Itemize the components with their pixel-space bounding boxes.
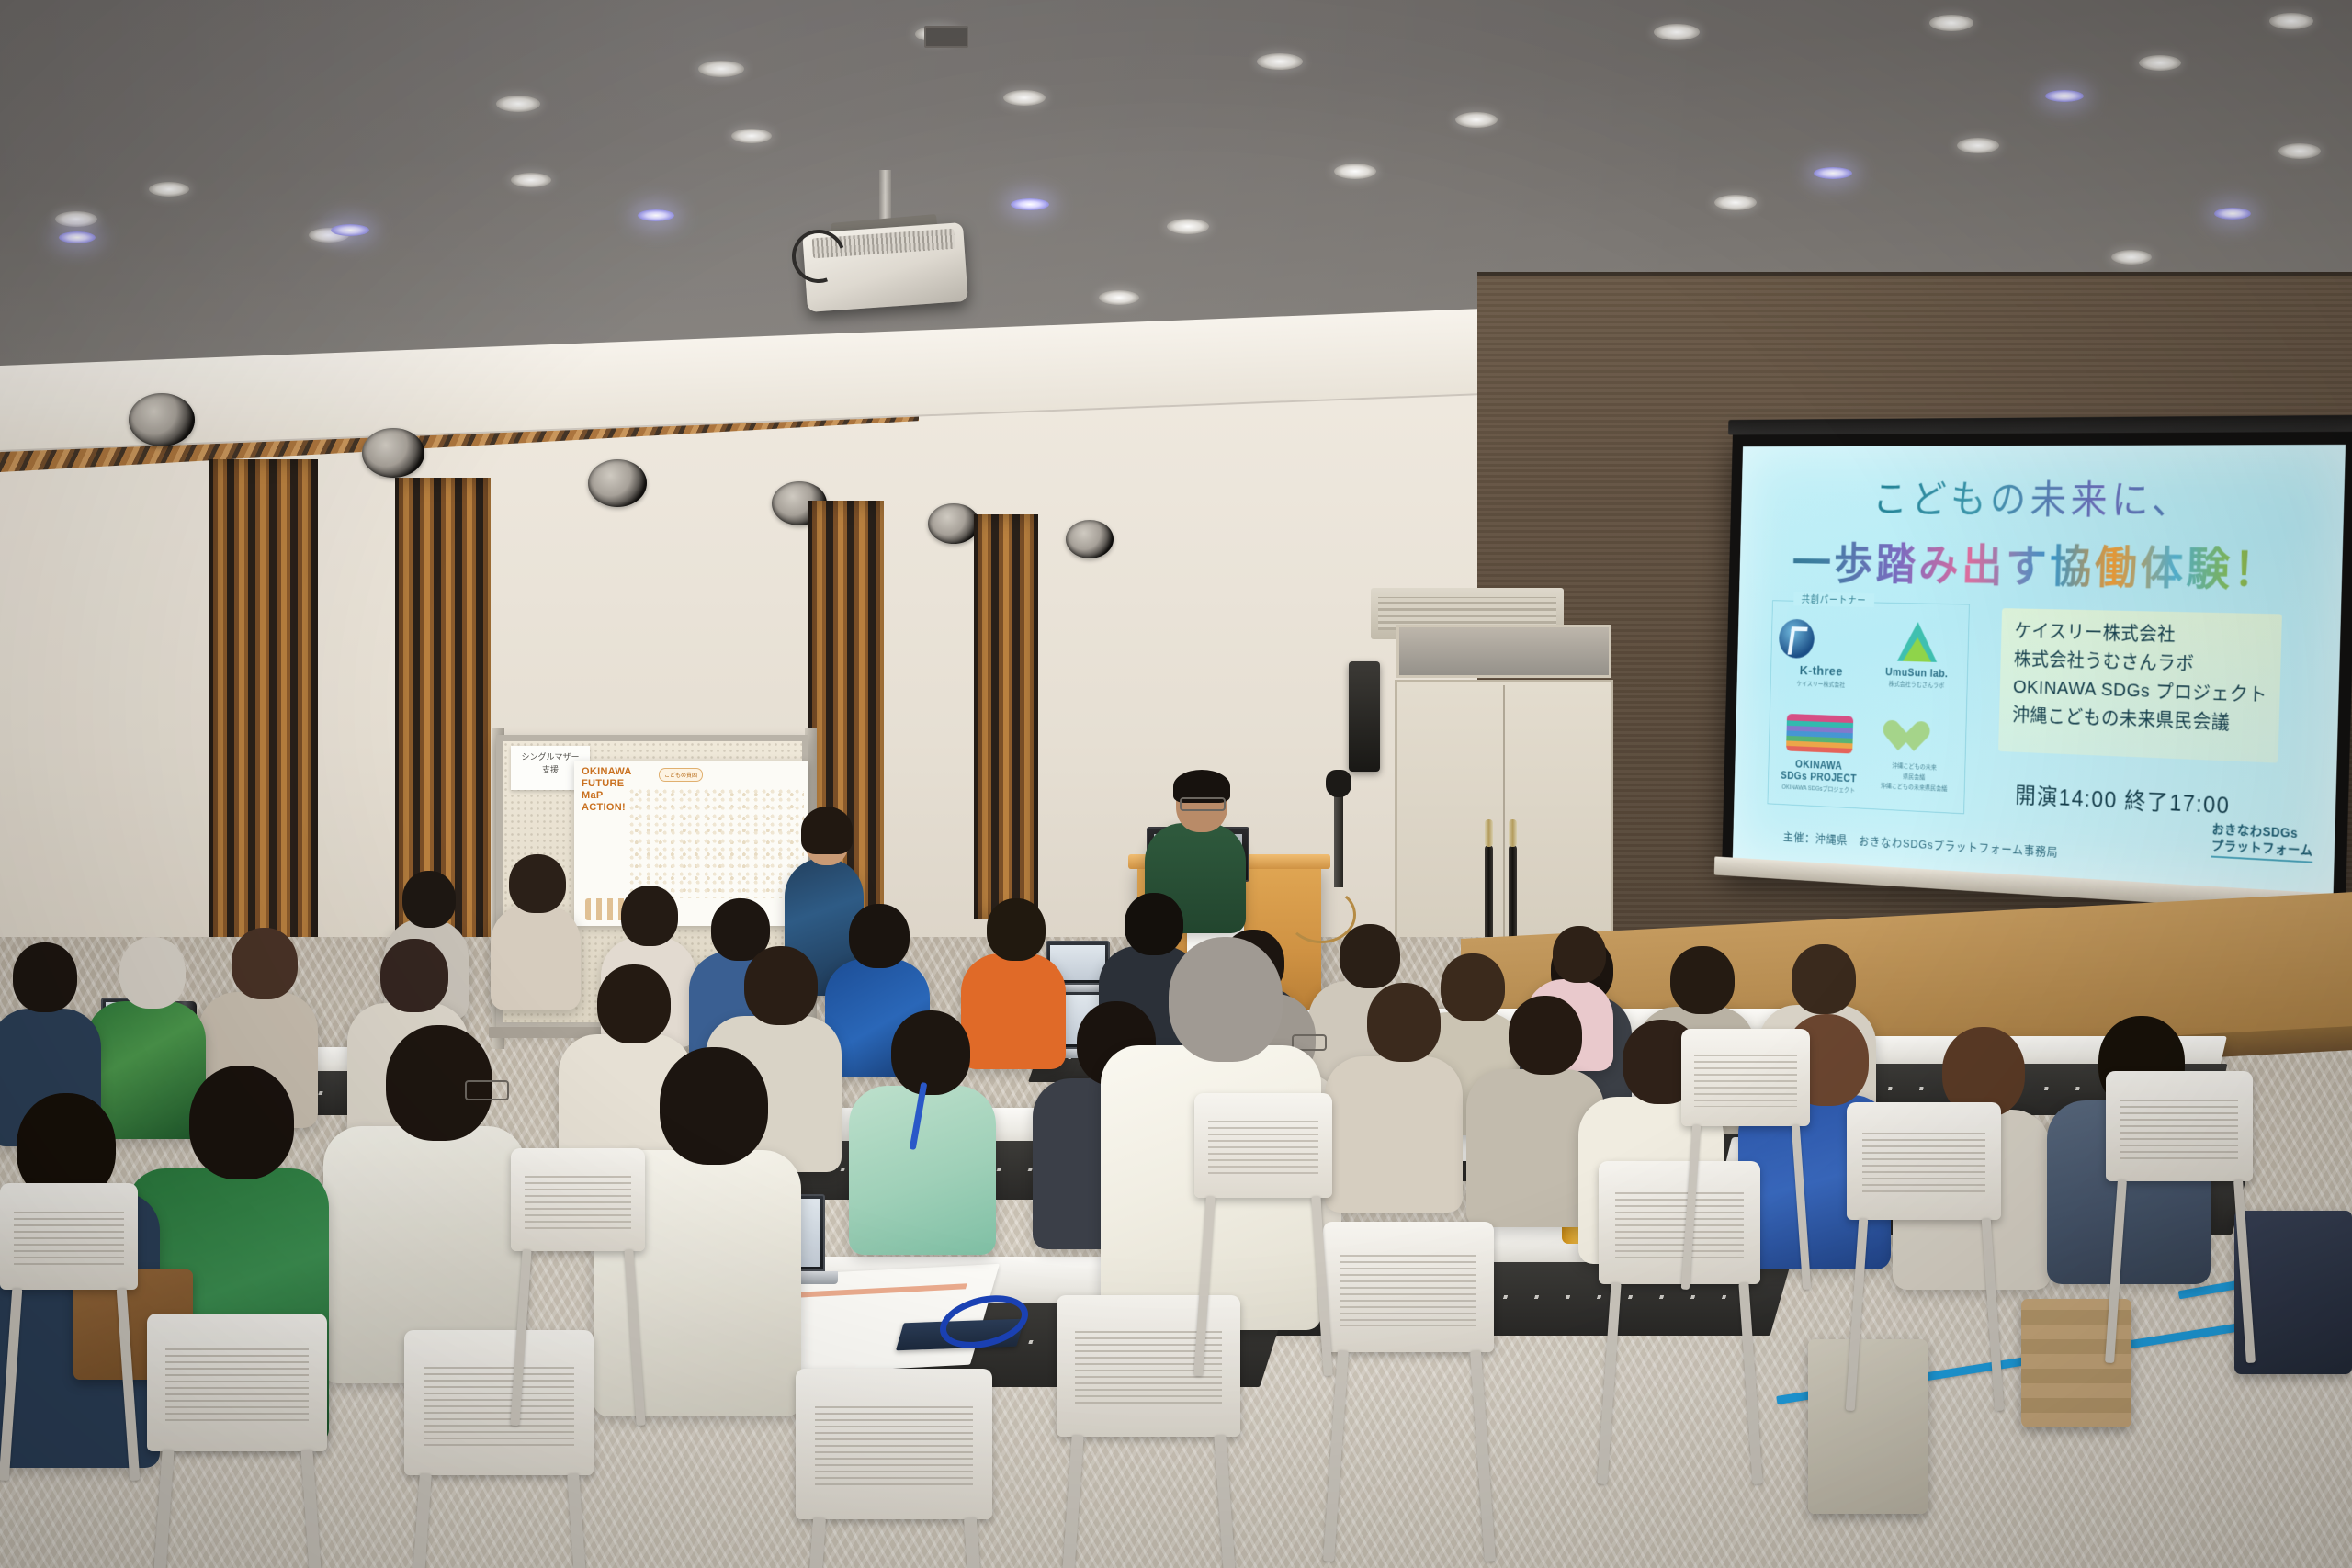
slide-title-line2: 一歩踏み出す協働体験！ [1739,529,2343,601]
downlight [496,96,540,112]
downlight [1167,219,1209,234]
attendee-head [891,1010,970,1095]
downlight [698,61,744,77]
ceiling-vent [924,26,968,48]
poster-tag: こどもの貧困 [659,768,703,782]
podium-microphone [1334,788,1343,887]
attendee-head [1441,953,1505,1021]
attendee-head [1125,893,1183,955]
attendee-head [1670,946,1735,1014]
presenter-glasses [1180,797,1226,811]
attendee-head [189,1066,294,1179]
downlight [511,173,551,187]
seminar-room-photo: こどもの未来に、 一歩踏み出す協働体験！ 共創パートナー K-three ケイス… [0,0,2352,1568]
partner-logo-k-three: K-three ケイスリー株式会社 [1778,619,1866,691]
chair-backrest [796,1369,992,1519]
attendee-head [660,1047,768,1165]
poster-title-line4: ACTION! [582,802,632,814]
umusun-lab-logo-icon [1872,621,1962,665]
attendee-body [491,904,581,1010]
partner-logo-umusun-lab: UmuSun lab. 株式会社うむさんラボ [1872,621,1963,691]
downlight [1003,90,1046,106]
downlight [1455,112,1498,128]
attendee-head [509,854,566,913]
partner-name: UmuSun lab. [1872,665,1962,680]
attendee-head [1169,937,1283,1062]
chair-backrest [1194,1093,1332,1198]
ceiling-spotlight [638,209,674,221]
attendee-head [1792,944,1856,1014]
okinawa-sdgs-logo-icon [1776,714,1863,758]
attendee-head [119,937,186,1009]
future-map-poster: OKINAWA FUTURE MaP ACTION! こどもの貧困 [574,761,808,926]
downlight [2111,250,2152,265]
ceiling-speaker [129,393,195,446]
downlight [731,129,772,143]
ceiling-speaker [928,503,979,544]
downlight [1257,53,1303,70]
poster-title: OKINAWA FUTURE MaP ACTION! [582,766,632,814]
attendee-head [380,939,448,1012]
attendee-head [1367,983,1441,1062]
chair-backrest [1323,1222,1494,1352]
downlight [55,211,97,227]
heart-leaf-logo-icon [1871,716,1961,761]
slide-title: こどもの未来に、 一歩踏み出す協働体験！ [1739,468,2345,601]
attendee-head [13,942,77,1012]
attendee-body [1325,1056,1463,1213]
wall-mounted-speaker [1349,661,1380,772]
ceiling-spotlight [1814,167,1852,179]
downlight [1957,138,1999,153]
downlight [2139,55,2181,71]
showtime-text: 開演14:00 終了17:00 [2015,778,2231,820]
partner-logo-kodomo-mirai: 沖縄こどもの未来 県民会議 沖縄こどもの未来県民会議 [1870,716,1961,794]
ceiling-speaker [588,459,647,507]
partner-logo-okinawa-sdgs: OKINAWA SDGs PROJECT OKINAWA SDGsプロジェクト [1775,714,1863,795]
poster-map-graphic [629,788,804,898]
downlight [1099,290,1139,305]
k-three-logo-icon [1779,619,1866,662]
poster-title-line3: MaP [582,790,632,802]
downlight [149,182,189,197]
partner-name: K-three [1778,662,1864,680]
downlight [2278,143,2321,159]
attendee-head [597,964,671,1043]
attendee-head [1553,926,1606,983]
partner-box-label: 共創パートナー [1793,592,1874,608]
ceiling-spotlight [2045,90,2084,102]
door-handle-top [1485,819,1493,847]
attendee-head [621,886,678,946]
attendee-head [849,904,910,968]
ceiling-spotlight [2214,208,2251,220]
downlight [2269,13,2313,29]
chair-backrest [0,1183,138,1290]
ceiling-speaker [1066,520,1114,558]
chair-backrest [511,1148,645,1251]
chair-backrest [147,1314,327,1451]
attendee-head [987,898,1046,961]
attendee-head [1340,924,1400,988]
attendee-head [744,946,818,1025]
ceiling-speaker [362,428,424,478]
chair-backrest [2106,1071,2253,1181]
okinawa-sdgs-platform-logo: おきなわSDGs プラットフォーム [2211,821,2314,863]
wood-slat-panel [974,514,1038,919]
projection-screen: こどもの未来に、 一歩踏み出す協働体験！ 共創パートナー K-three ケイス… [1722,432,2352,909]
poster-title-line2: FUTURE [582,778,632,790]
poster-title-line1: OKINAWA [582,766,632,778]
downlight [1334,164,1376,179]
ceiling-spotlight [59,231,96,243]
downlight [1714,195,1757,210]
slide-footer-text: 主催：沖縄県 おきなわSDGsプラットフォーム事務局 [1783,828,2059,860]
slide-title-line1: こどもの未来に、 [1741,468,2345,527]
attendee-body [961,953,1066,1069]
door-handle-top [1509,819,1517,847]
presentation-slide: こどもの未来に、 一歩踏み出す協働体験！ 共創パートナー K-three ケイス… [1733,445,2346,896]
chair-backrest [1599,1161,1760,1284]
ceiling-spotlight [331,224,369,236]
standing-attendee-hair [801,807,853,854]
chair-backrest [1681,1029,1810,1126]
ceiling-spotlight [1011,198,1049,210]
chair-backrest [404,1330,594,1475]
eyeglasses [465,1080,509,1100]
attendee-head [1509,996,1582,1075]
organization-list: ケイスリー株式会社 株式会社うむさんラボ OKINAWA SDGs プロジェクト… [2012,617,2288,739]
downlight [1654,24,1700,40]
attendee-head [232,928,298,999]
backpack [1808,1339,1928,1514]
door-transom-window [1396,625,1611,678]
downlight [1929,15,1973,31]
chair-backrest [1847,1102,2001,1220]
chair-backrest [1057,1295,1240,1437]
attendee-head [402,871,456,928]
